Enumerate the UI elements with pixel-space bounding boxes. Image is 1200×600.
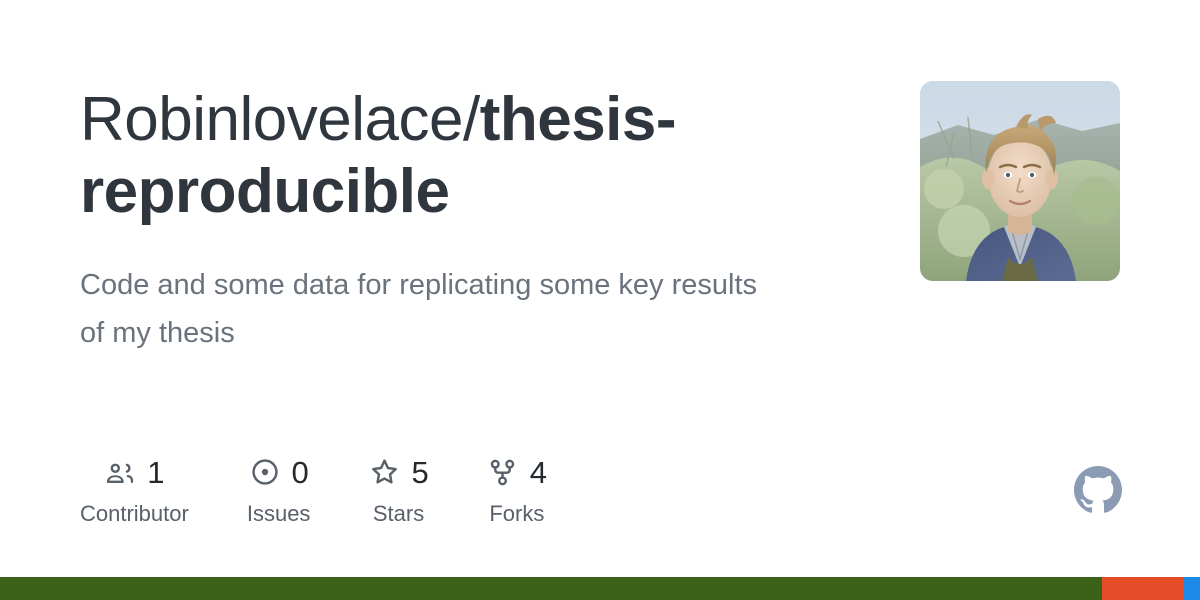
repo-stats: 1 Contributor 0 Issues: [80, 452, 547, 525]
stat-label: Stars: [373, 503, 424, 525]
stat-stars: 5 Stars: [368, 452, 428, 525]
page-title: Robinlovelace/thesis-reproducible: [80, 84, 880, 228]
stat-value: 1: [147, 457, 164, 488]
stat-top: 1: [104, 452, 164, 492]
repository-social-card: Robinlovelace/thesis-reproducible Code a…: [0, 0, 1200, 600]
repo-description: Code and some data for replicating some …: [80, 262, 780, 358]
repo-owner: Robinlovelace/: [80, 85, 480, 154]
language-segment-2: [1102, 577, 1185, 600]
stat-value: 5: [411, 457, 428, 488]
language-segment-1: [0, 577, 1102, 600]
language-segment-3: [1184, 577, 1200, 600]
stat-issues: 0 Issues: [247, 452, 311, 525]
stat-contributors: 1 Contributor: [80, 452, 189, 525]
stat-value: 4: [530, 457, 547, 488]
stat-top: 4: [487, 452, 547, 492]
language-bar: [0, 577, 1200, 600]
stat-top: 0: [249, 452, 309, 492]
avatar: [920, 81, 1120, 281]
stat-label: Issues: [247, 503, 311, 525]
github-mark-icon: [1074, 466, 1122, 514]
stat-top: 5: [368, 452, 428, 492]
stat-forks: 4 Forks: [487, 452, 547, 525]
fork-icon: [487, 456, 519, 488]
stat-label: Contributor: [80, 503, 189, 525]
people-icon: [104, 456, 136, 488]
stat-value: 0: [292, 457, 309, 488]
stat-label: Forks: [489, 503, 544, 525]
star-icon: [368, 456, 400, 488]
issue-opened-icon: [249, 456, 281, 488]
